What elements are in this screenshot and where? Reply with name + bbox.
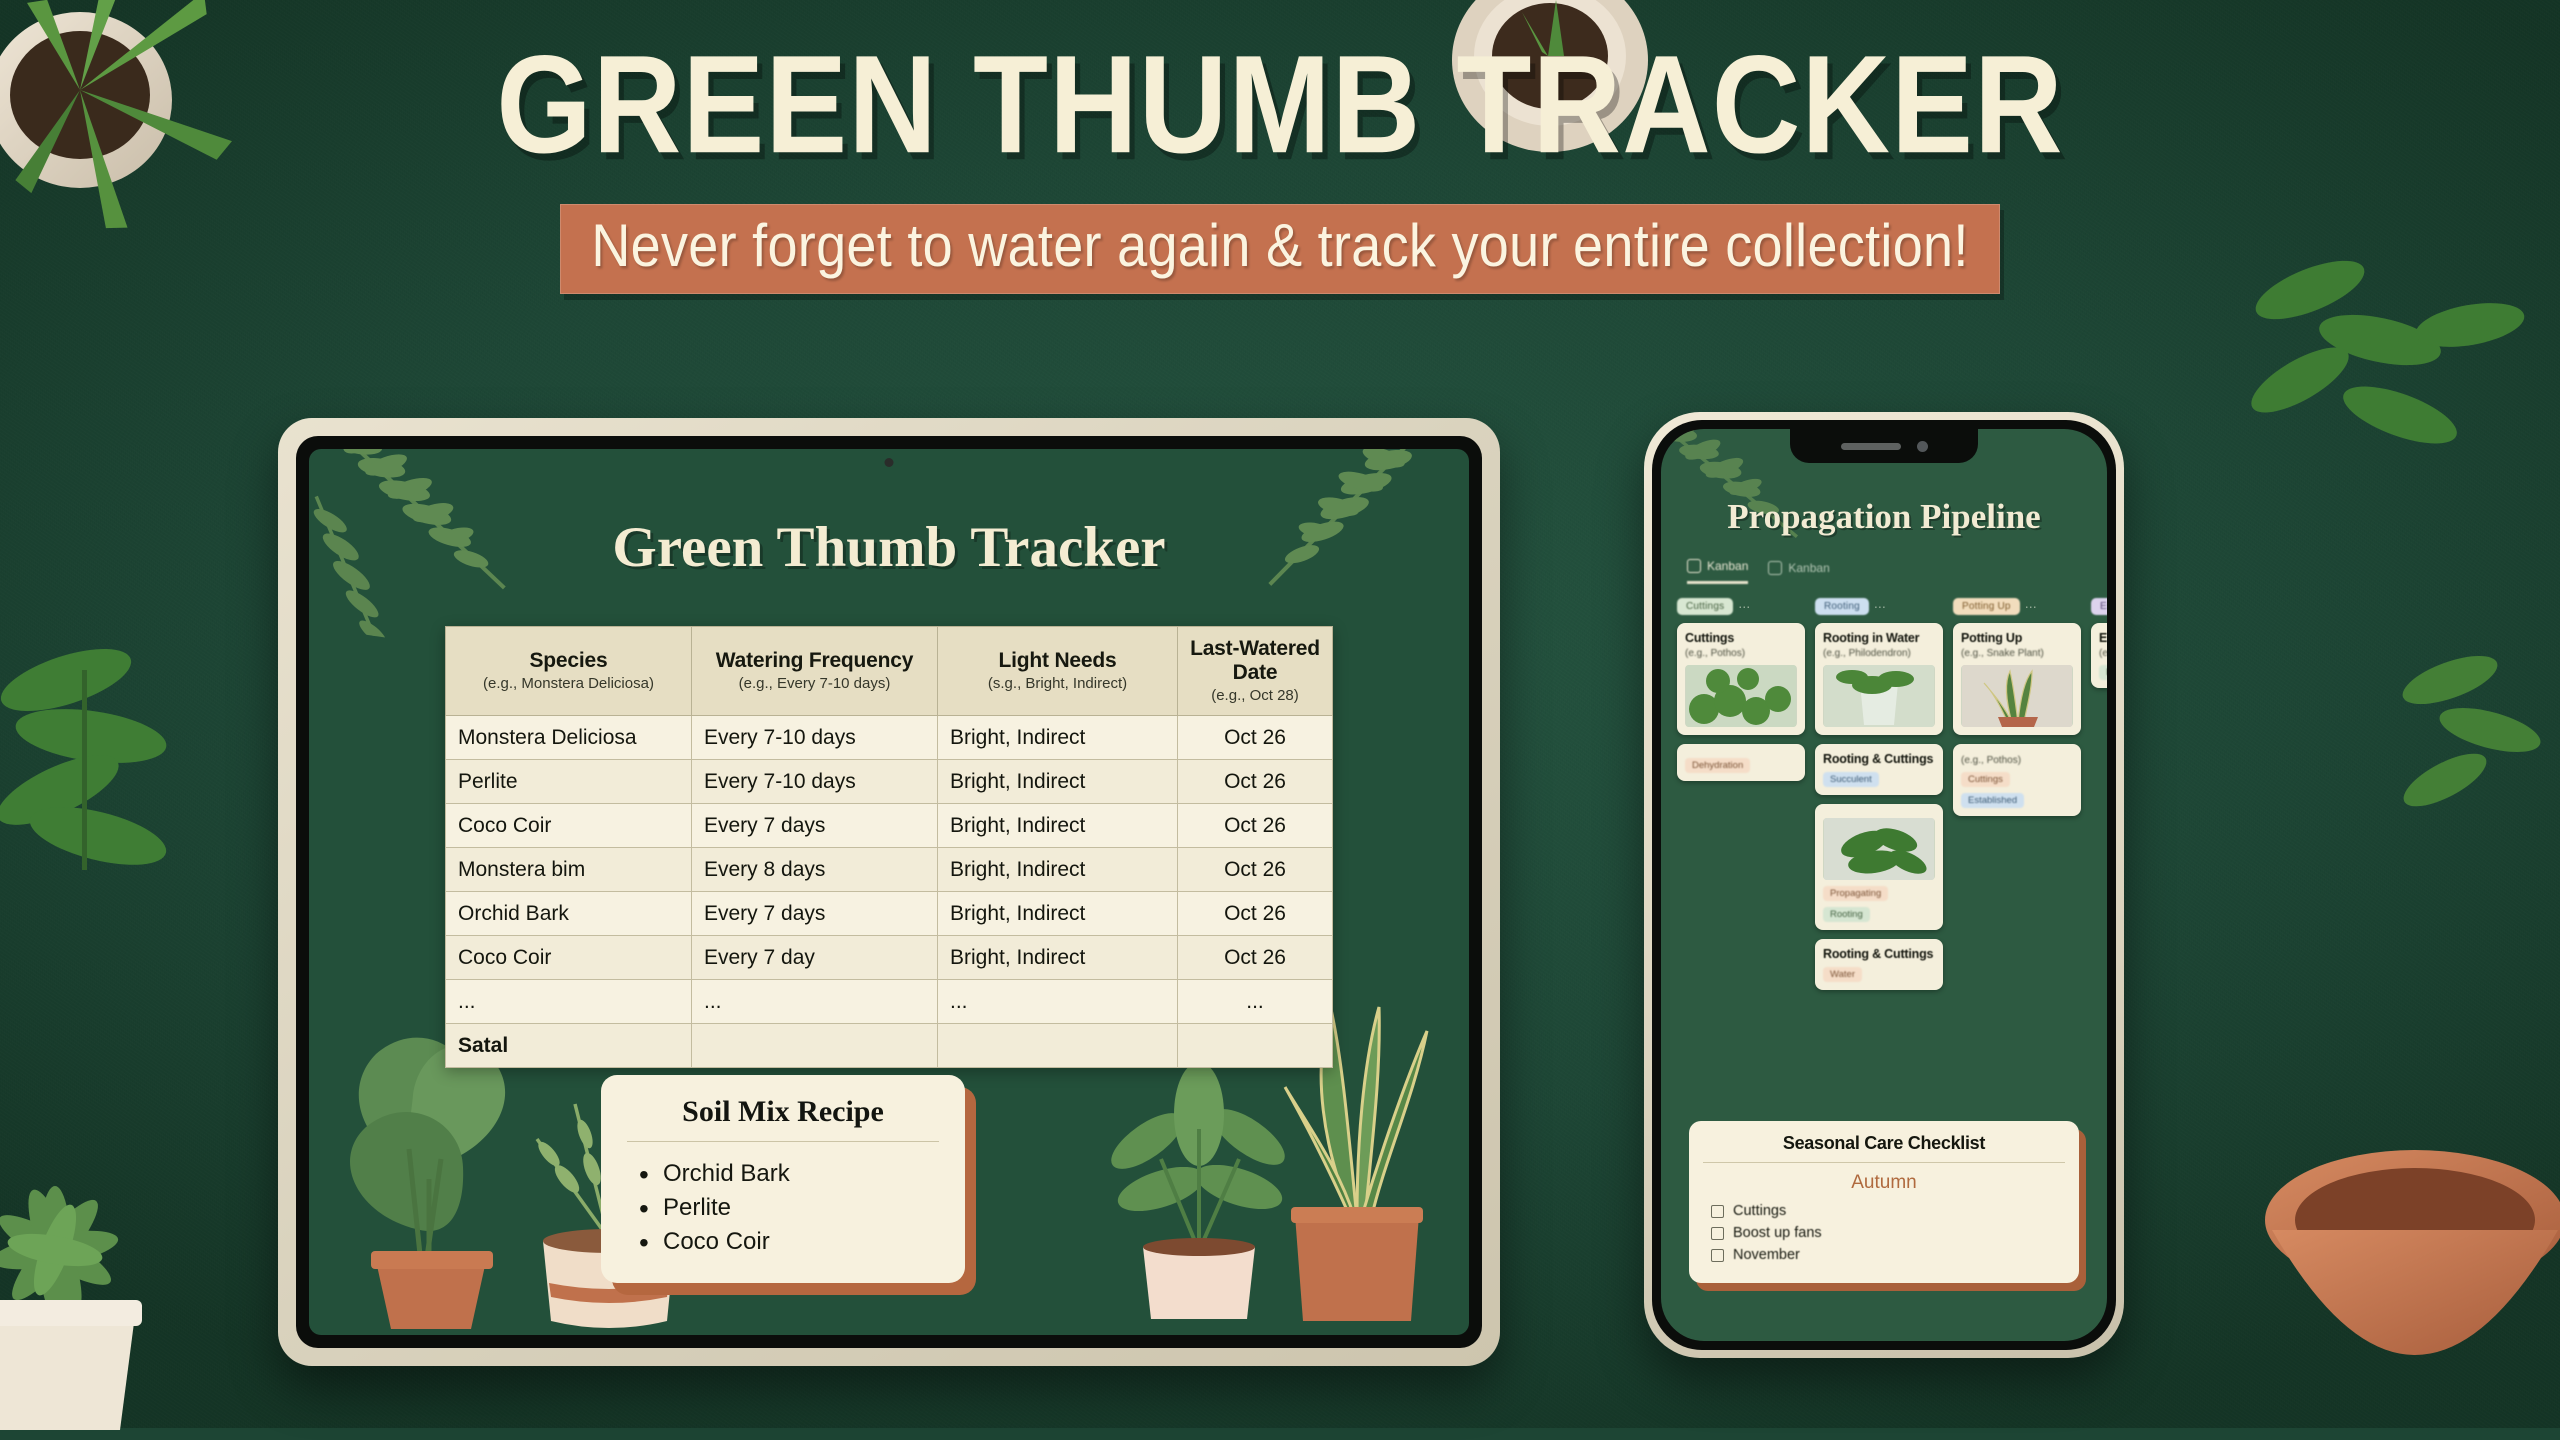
kanban-card-title: Rooting & Cuttings bbox=[1823, 752, 1935, 766]
kanban-board: Cuttings⋯Cuttings(e.g., Pothos)Dehydrati… bbox=[1661, 584, 2107, 999]
kanban-card-title: Cuttings bbox=[1685, 631, 1797, 645]
checklist-row[interactable]: November bbox=[1703, 1247, 2065, 1263]
cell-light: ... bbox=[938, 980, 1178, 1024]
kanban-card[interactable]: Dehydration bbox=[1677, 744, 1805, 781]
tablet-screen: Green Thumb Tracker Species (e.g., Monst… bbox=[309, 449, 1469, 1335]
plant-care-table: Species (e.g., Monstera Deliciosa) Water… bbox=[445, 626, 1333, 1068]
column-title: Watering Frequency bbox=[698, 649, 931, 673]
cell-species: Orchid Bark bbox=[446, 892, 692, 936]
kanban-card-subtitle: (e.g., Pothos) bbox=[1685, 648, 1797, 659]
kanban-card-chip: Water bbox=[1823, 967, 1862, 982]
checklist-season-label: Autumn bbox=[1703, 1172, 2065, 1194]
table-row[interactable]: Monstera DeliciosaEvery 7-10 daysBright,… bbox=[446, 716, 1333, 760]
column-title: Light Needs bbox=[944, 649, 1171, 673]
kanban-card[interactable]: PropagatingRooting bbox=[1815, 804, 1943, 930]
kanban-card-chip: Established bbox=[2099, 665, 2107, 680]
cell-light: Bright, Indirect bbox=[938, 716, 1178, 760]
column-status-tag: Cuttings bbox=[1677, 598, 1733, 615]
soil-ingredient-list: Orchid BarkPerliteCoco Coir bbox=[627, 1157, 939, 1259]
tablet-bezel: Green Thumb Tracker Species (e.g., Monst… bbox=[296, 436, 1482, 1348]
kanban-card[interactable]: Potting Up(e.g., Snake Plant) bbox=[1953, 623, 2081, 735]
table-row[interactable]: Monstera bimEvery 8 daysBright, Indirect… bbox=[446, 848, 1333, 892]
page-header: GREEN THUMB TRACKER Never forget to wate… bbox=[0, 46, 2560, 294]
kanban-card-title: Potting Up bbox=[1961, 631, 2073, 645]
tablet-device: Green Thumb Tracker Species (e.g., Monst… bbox=[278, 418, 1500, 1366]
cell-watering: Every 8 days bbox=[692, 848, 938, 892]
kanban-card-chip: Succulent bbox=[1823, 772, 1879, 787]
cell-watering: Every 7 days bbox=[692, 892, 938, 936]
tab-label: Kanban bbox=[1788, 561, 1829, 575]
kanban-column-2: Potting Up⋯Potting Up(e.g., Snake Plant)… bbox=[1953, 598, 2081, 999]
kanban-card[interactable]: Rooting & CuttingsWater bbox=[1815, 939, 1943, 990]
checklist-row[interactable]: Boost up fans bbox=[1703, 1225, 2065, 1241]
cell-light: Bright, Indirect bbox=[938, 760, 1178, 804]
kanban-card-chip: Cuttings bbox=[1961, 772, 2010, 787]
cell-light: Bright, Indirect bbox=[938, 892, 1178, 936]
board-icon bbox=[1687, 559, 1701, 573]
column-menu-icon[interactable]: ⋯ bbox=[2025, 600, 2037, 614]
total-empty-cell bbox=[1178, 1024, 1333, 1068]
cell-date: Oct 26 bbox=[1178, 716, 1333, 760]
kanban-card-thumbnail bbox=[1823, 665, 1935, 727]
table-row[interactable]: Orchid BarkEvery 7 daysBright, IndirectO… bbox=[446, 892, 1333, 936]
checkbox-icon[interactable] bbox=[1711, 1227, 1724, 1240]
kanban-column-header[interactable]: Cuttings⋯ bbox=[1677, 598, 1805, 615]
cell-date: ... bbox=[1178, 980, 1333, 1024]
cell-light: Bright, Indirect bbox=[938, 936, 1178, 980]
front-camera-icon bbox=[1917, 441, 1928, 452]
table-body: Monstera DeliciosaEvery 7-10 daysBright,… bbox=[446, 716, 1333, 1068]
phone-device: Propagation Pipeline KanbanKanban Cuttin… bbox=[1644, 412, 2124, 1358]
kanban-card[interactable]: Cuttings(e.g., Pothos) bbox=[1677, 623, 1805, 735]
speaker-icon bbox=[1841, 443, 1901, 450]
checklist-label: November bbox=[1733, 1247, 1800, 1263]
soil-card-title: Soil Mix Recipe bbox=[627, 1095, 939, 1142]
column-hint: (e.g., Every 7-10 days) bbox=[698, 675, 931, 692]
cell-light: Bright, Indirect bbox=[938, 848, 1178, 892]
kanban-card-subtitle: (e.g., ZZ Plant) bbox=[2099, 648, 2107, 659]
board-icon bbox=[1768, 561, 1782, 575]
kanban-card-subtitle: (e.g., Philodendron) bbox=[1823, 648, 1935, 659]
kanban-card-chip: Dehydration bbox=[1685, 758, 1750, 773]
cell-date: Oct 26 bbox=[1178, 804, 1333, 848]
tablet-camera-icon bbox=[885, 458, 894, 467]
kanban-card[interactable]: Rooting in Water(e.g., Philodendron) bbox=[1815, 623, 1943, 735]
table-header-row: Species (e.g., Monstera Deliciosa) Water… bbox=[446, 627, 1333, 716]
checkbox-icon[interactable] bbox=[1711, 1249, 1724, 1262]
cell-date: Oct 26 bbox=[1178, 892, 1333, 936]
kanban-card-subtitle: (e.g., Pothos) bbox=[1961, 755, 2073, 766]
kanban-card-chip: Rooting bbox=[1823, 907, 1870, 922]
cell-watering: ... bbox=[692, 980, 938, 1024]
cell-date: Oct 26 bbox=[1178, 848, 1333, 892]
cell-watering: Every 7 day bbox=[692, 936, 938, 980]
seasonal-care-checklist-card: Seasonal Care Checklist Autumn CuttingsB… bbox=[1689, 1121, 2079, 1283]
tab-label: Kanban bbox=[1707, 559, 1748, 573]
checklist-items: CuttingsBoost up fansNovember bbox=[1703, 1203, 2065, 1263]
cell-watering: Every 7-10 days bbox=[692, 760, 938, 804]
table-row[interactable]: Coco CoirEvery 7 daysBright, IndirectOct… bbox=[446, 804, 1333, 848]
phone-screen: Propagation Pipeline KanbanKanban Cuttin… bbox=[1661, 429, 2107, 1341]
cell-date: Oct 26 bbox=[1178, 760, 1333, 804]
checklist-label: Boost up fans bbox=[1733, 1225, 1822, 1241]
phone-tab-bar: KanbanKanban bbox=[1661, 559, 2107, 584]
kanban-card-title: Established bbox=[2099, 631, 2107, 645]
column-status-tag: Rooting bbox=[1815, 598, 1869, 615]
tablet-app-title: Green Thumb Tracker bbox=[309, 515, 1469, 580]
column-hint: (e.g., Monstera Deliciosa) bbox=[452, 675, 685, 692]
column-menu-icon[interactable]: ⋯ bbox=[1738, 600, 1750, 614]
cell-species: ... bbox=[446, 980, 692, 1024]
tab-0[interactable]: Kanban bbox=[1687, 559, 1748, 584]
kanban-column-header[interactable]: Potting Up⋯ bbox=[1953, 598, 2081, 615]
kanban-card-thumbnail bbox=[1823, 818, 1935, 880]
phone-bezel: Propagation Pipeline KanbanKanban Cuttin… bbox=[1652, 420, 2116, 1350]
kanban-column-0: Cuttings⋯Cuttings(e.g., Pothos)Dehydrati… bbox=[1677, 598, 1805, 999]
soil-ingredient: Perlite bbox=[627, 1191, 939, 1225]
soil-ingredient: Orchid Bark bbox=[627, 1157, 939, 1191]
cell-species: Monstera Deliciosa bbox=[446, 716, 692, 760]
column-status-tag: Potting Up bbox=[1953, 598, 2020, 615]
column-hint: (s.g., Bright, Indirect) bbox=[944, 675, 1171, 692]
kanban-card[interactable]: (e.g., Pothos)CuttingsEstablished bbox=[1953, 744, 2081, 816]
tab-1[interactable]: Kanban bbox=[1768, 559, 1829, 584]
kanban-column-header[interactable]: Established⋯ bbox=[2091, 598, 2107, 615]
cell-watering: Every 7 days bbox=[692, 804, 938, 848]
cell-light: Bright, Indirect bbox=[938, 804, 1178, 848]
checkbox-icon[interactable] bbox=[1711, 1205, 1724, 1218]
column-title: Species bbox=[452, 649, 685, 673]
cell-date: Oct 26 bbox=[1178, 936, 1333, 980]
kanban-card[interactable]: Rooting & CuttingsSucculent bbox=[1815, 744, 1943, 795]
page-title: GREEN THUMB TRACKER bbox=[0, 35, 2560, 174]
kanban-card[interactable]: Established(e.g., ZZ Plant)Established bbox=[2091, 623, 2107, 688]
column-header-last-watered-date[interactable]: Last-Watered Date (e.g., Oct 28) bbox=[1178, 627, 1333, 716]
column-header-watering-frequency[interactable]: Watering Frequency (e.g., Every 7-10 day… bbox=[692, 627, 938, 716]
cell-species: Perlite bbox=[446, 760, 692, 804]
soil-mix-recipe-card: Soil Mix Recipe Orchid BarkPerliteCoco C… bbox=[601, 1075, 965, 1283]
column-title: Last-Watered Date bbox=[1184, 637, 1326, 685]
kanban-card-chip: Propagating bbox=[1823, 886, 1888, 901]
soil-ingredient: Coco Coir bbox=[627, 1225, 939, 1259]
kanban-card-thumbnail bbox=[1685, 665, 1797, 727]
checklist-title: Seasonal Care Checklist bbox=[1703, 1133, 2065, 1163]
kanban-card-subtitle: (e.g., Snake Plant) bbox=[1961, 648, 2073, 659]
kanban-card-title: Rooting in Water bbox=[1823, 631, 1935, 645]
column-status-tag: Established bbox=[2091, 598, 2107, 615]
checklist-label: Cuttings bbox=[1733, 1203, 1786, 1219]
kanban-card-thumbnail bbox=[1961, 665, 2073, 727]
column-header-species[interactable]: Species (e.g., Monstera Deliciosa) bbox=[446, 627, 692, 716]
cell-species: Coco Coir bbox=[446, 936, 692, 980]
table-row[interactable]: Coco CoirEvery 7 dayBright, IndirectOct … bbox=[446, 936, 1333, 980]
cell-watering: Every 7-10 days bbox=[692, 716, 938, 760]
cell-species: Coco Coir bbox=[446, 804, 692, 848]
kanban-column-header[interactable]: Rooting⋯ bbox=[1815, 598, 1943, 615]
total-empty-cell bbox=[938, 1024, 1178, 1068]
kanban-card-chip: Established bbox=[1961, 793, 2024, 808]
column-header-light-needs[interactable]: Light Needs (s.g., Bright, Indirect) bbox=[938, 627, 1178, 716]
table-total-row: Satal bbox=[446, 1024, 1333, 1068]
total-label: Satal bbox=[446, 1024, 692, 1068]
phone-app-title: Propagation Pipeline bbox=[1661, 497, 2107, 537]
column-menu-icon[interactable]: ⋯ bbox=[1874, 600, 1886, 614]
kanban-column-1: Rooting⋯Rooting in Water(e.g., Philodend… bbox=[1815, 598, 1943, 999]
kanban-card-title: Rooting & Cuttings bbox=[1823, 947, 1935, 961]
column-hint: (e.g., Oct 28) bbox=[1184, 687, 1326, 704]
subtitle-text: Never forget to water again & track your… bbox=[591, 211, 1968, 280]
phone-notch bbox=[1790, 429, 1978, 463]
total-empty-cell bbox=[692, 1024, 938, 1068]
table-row[interactable]: ............ bbox=[446, 980, 1333, 1024]
subtitle-banner: Never forget to water again & track your… bbox=[560, 204, 1999, 294]
kanban-column-3: Established⋯Established(e.g., ZZ Plant)E… bbox=[2091, 598, 2107, 999]
checklist-row[interactable]: Cuttings bbox=[1703, 1203, 2065, 1219]
table-row[interactable]: PerliteEvery 7-10 daysBright, IndirectOc… bbox=[446, 760, 1333, 804]
cell-species: Monstera bim bbox=[446, 848, 692, 892]
